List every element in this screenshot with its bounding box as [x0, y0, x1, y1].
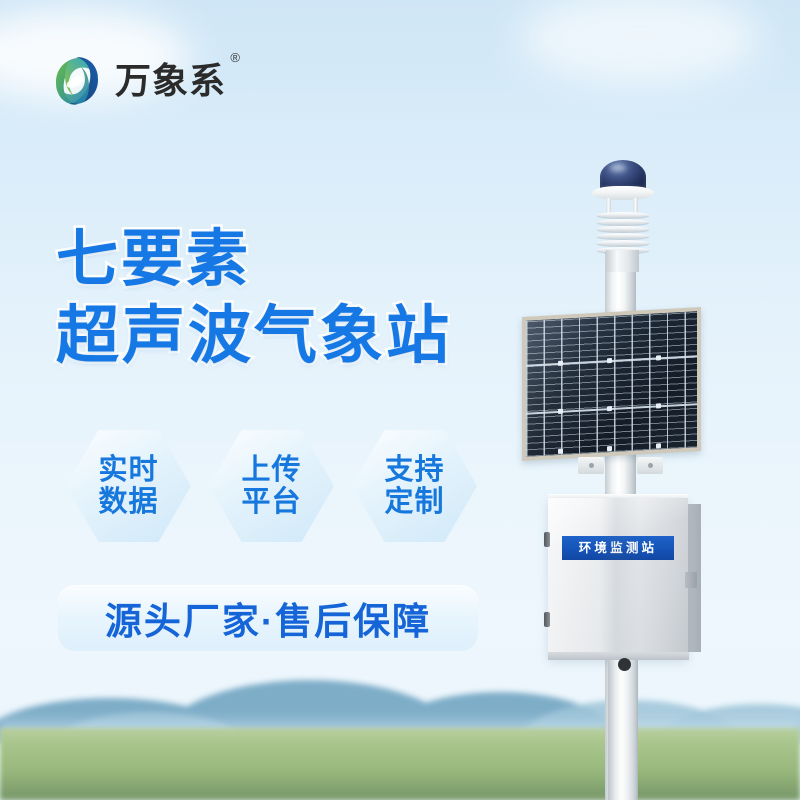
solar-panel-icon — [522, 307, 701, 461]
product-poster: 环境监测站 — [0, 0, 800, 800]
sensor-dome — [600, 160, 646, 190]
badge-3-line-2: 定制 — [384, 486, 444, 518]
badge-2-line-2: 平台 — [241, 486, 301, 518]
badge-3-line-1: 支持 — [384, 454, 444, 486]
brand-name-text: 万象系 — [115, 60, 226, 101]
badge-1-line-2: 数据 — [98, 486, 158, 518]
panel-bracket-right — [637, 457, 663, 474]
radiation-shield-louvers — [597, 212, 649, 252]
page-title: 七要素 超声波气象站 — [56, 222, 452, 376]
enclosure-label-text: 环境监测站 — [579, 542, 658, 555]
headline-line-2: 超声波气象站 — [56, 298, 452, 375]
ground-shadow — [0, 774, 800, 800]
enclosure-top — [548, 494, 688, 501]
sensor-post-right — [633, 198, 638, 216]
enclosure-latch — [685, 572, 697, 588]
feature-badges: 实时 数据 上传 平台 支持 定制 — [66, 430, 477, 542]
feature-badge-upload-platform[interactable]: 上传 平台 — [209, 430, 334, 542]
sensor-disc — [592, 186, 654, 200]
brand-name: 万象系 ® — [115, 63, 226, 99]
trademark-symbol: ® — [230, 51, 241, 64]
badge-1-line-1: 实时 — [98, 454, 158, 486]
tagline-text: 源头厂家·售后保障 — [105, 591, 431, 645]
panel-bracket-left — [578, 457, 604, 474]
enclosure-label: 环境监测站 — [562, 536, 674, 560]
brand-logo[interactable]: 万象系 ® — [48, 52, 226, 110]
sensor-dome-glint — [610, 164, 626, 172]
ultrasonic-weather-sensor-icon — [586, 160, 658, 270]
tagline-banner: 源头厂家·售后保障 — [58, 585, 478, 651]
sensor-post-left — [606, 198, 611, 216]
sensor-neck — [606, 250, 639, 272]
feature-badge-realtime-data[interactable]: 实时 数据 — [66, 430, 191, 542]
badge-2-line-1: 上传 — [241, 454, 301, 486]
globe-swirl-logo-icon — [48, 52, 106, 110]
enclosure-hinge-top — [544, 532, 550, 547]
feature-badge-customization[interactable]: 支持 定制 — [352, 430, 477, 542]
headline-line-1: 七要素 — [56, 222, 452, 298]
